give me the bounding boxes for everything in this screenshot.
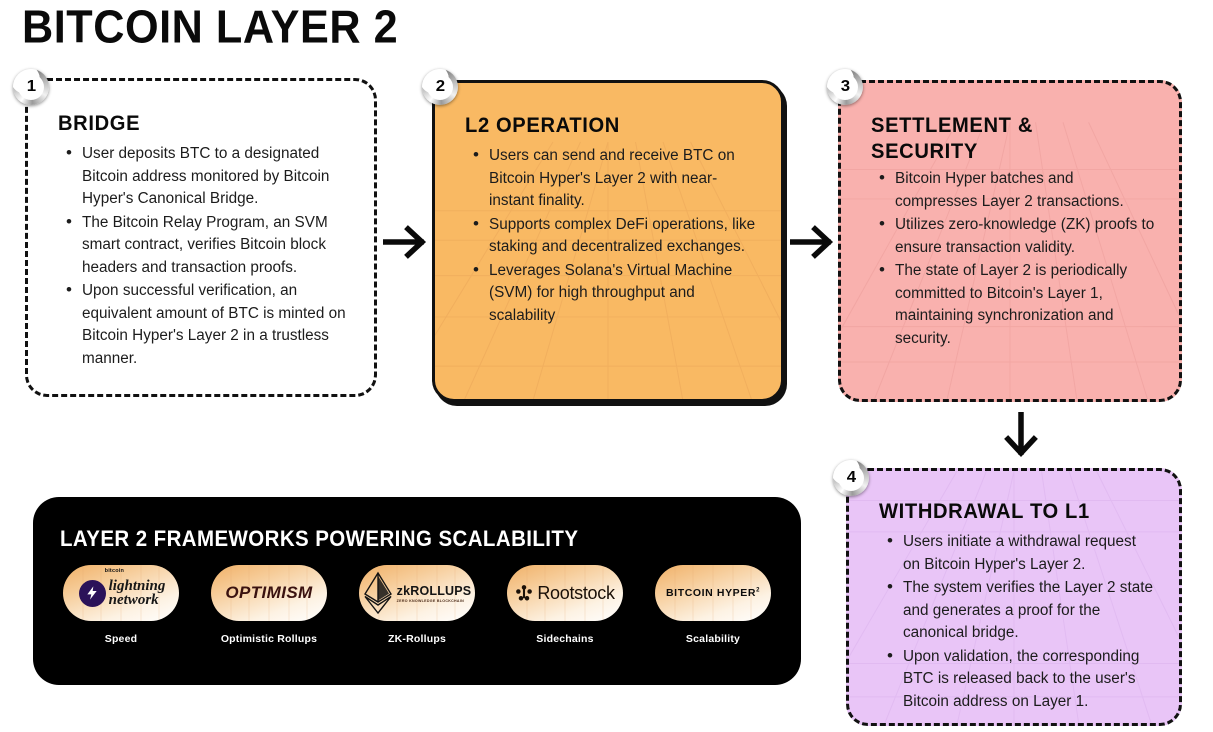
zkrollups-wordmark: zkROLLUPS ZERO KNOWLEDGE BLOCKCHAIN [397, 584, 472, 603]
rootstock-logo: Rootstock [507, 565, 623, 621]
optimism-wordmark: OPTIMISM [225, 583, 312, 603]
bitcoin-hyper-name: BITCOIN HYPER [666, 587, 756, 599]
infographic-root: BITCOIN LAYER 2 BRIDGE User deposits BTC… [0, 0, 1213, 732]
step-card-bridge: BRIDGE User deposits BTC to a designated… [25, 78, 377, 397]
frameworks-logo-row: bitcoin lightning network Speed [57, 565, 777, 645]
framework-caption: Optimistic Rollups [221, 633, 317, 645]
list-item: Upon validation, the corresponding BTC i… [879, 646, 1157, 714]
framework-item-scalability[interactable]: BITCOIN HYPER2 Scalability [649, 565, 777, 645]
step-bullets-settlement-security: Bitcoin Hyper batches and compresses Lay… [871, 168, 1157, 350]
step-card-bridge-content: BRIDGE User deposits BTC to a designated… [28, 81, 374, 389]
frameworks-panel-title: LAYER 2 FRAMEWORKS POWERING SCALABILITY [60, 527, 578, 553]
lightning-word: lightning [109, 579, 166, 593]
lightning-network-wordmark: lightning network [109, 579, 166, 607]
list-item: Supports complex DeFi operations, like s… [465, 214, 759, 259]
ethereum-diamond-icon [363, 571, 393, 615]
zkrollups-mark: zkROLLUPS ZERO KNOWLEDGE BLOCKCHAIN [363, 571, 472, 615]
step-badge-3-number: 3 [840, 79, 849, 95]
bolt-glyph [84, 585, 100, 601]
zkrollups-tagline: ZERO KNOWLEDGE BLOCKCHAIN [397, 599, 472, 603]
list-item: Upon successful verification, an equival… [58, 280, 352, 370]
lightning-network-logo: bitcoin lightning network [63, 565, 179, 621]
optimism-logo: OPTIMISM [211, 565, 327, 621]
bitcoin-sublabel: bitcoin [105, 568, 124, 574]
step-badge-1: 1 [13, 69, 49, 105]
bitcoin-hyper-superscript: 2 [756, 588, 760, 594]
step-title-withdrawal-l1: WITHDRAWAL TO L1 [879, 499, 1174, 525]
arrow-down-icon-step3-step4 [1000, 412, 1042, 460]
list-item: Leverages Solana's Virtual Machine (SVM)… [465, 260, 759, 328]
step-title-bridge: BRIDGE [58, 111, 370, 137]
list-item: The Bitcoin Relay Program, an SVM smart … [58, 212, 352, 280]
list-item: Utilizes zero-knowledge (ZK) proofs to e… [871, 214, 1157, 259]
framework-caption: Scalability [686, 633, 740, 645]
rootstock-mark: Rootstock [515, 583, 614, 604]
framework-caption: Speed [105, 633, 138, 645]
step-badge-2: 2 [422, 69, 458, 105]
step-card-withdrawal-content: WITHDRAWAL TO L1 Users initiate a withdr… [849, 471, 1179, 732]
framework-caption: Sidechains [536, 633, 593, 645]
step-badge-4: 4 [833, 460, 869, 496]
framework-item-speed[interactable]: bitcoin lightning network Speed [57, 565, 185, 645]
step-badge-4-number: 4 [846, 470, 855, 486]
zkrollups-name: zkROLLUPS [397, 584, 472, 598]
framework-caption: ZK-Rollups [388, 633, 446, 645]
list-item: The system verifies the Layer 2 state an… [879, 577, 1157, 645]
lightning-network-mark: bitcoin lightning network [77, 579, 166, 607]
step-title-settlement-security: SETTLEMENT & SECURITY [871, 113, 1099, 165]
framework-item-zk-rollups[interactable]: zkROLLUPS ZERO KNOWLEDGE BLOCKCHAIN ZK-R… [353, 565, 481, 645]
step-card-l2-operation-content: L2 OPERATION Users can send and receive … [435, 83, 781, 346]
arrow-right-icon-step2-step3 [790, 222, 836, 262]
rootstock-node-icon [515, 584, 533, 602]
framework-item-sidechains[interactable]: Rootstock Sidechains [501, 565, 629, 645]
step-bullets-bridge: User deposits BTC to a designated Bitcoi… [58, 143, 352, 370]
list-item: Users can send and receive BTC on Bitcoi… [465, 145, 759, 213]
framework-item-optimistic-rollups[interactable]: OPTIMISM Optimistic Rollups [205, 565, 333, 645]
list-item: The state of Layer 2 is periodically com… [871, 260, 1157, 350]
step-badge-1-number: 1 [26, 79, 35, 95]
network-word: network [109, 593, 166, 607]
list-item: Users initiate a withdrawal request on B… [879, 531, 1157, 576]
step-title-l2-operation: L2 OPERATION [465, 113, 777, 139]
list-item: User deposits BTC to a designated Bitcoi… [58, 143, 352, 211]
step-card-settlement-security: SETTLEMENT & SECURITY Bitcoin Hyper batc… [838, 80, 1182, 402]
zkrollups-logo: zkROLLUPS ZERO KNOWLEDGE BLOCKCHAIN [359, 565, 475, 621]
lightning-bolt-icon [79, 580, 106, 607]
step-card-settlement-content: SETTLEMENT & SECURITY Bitcoin Hyper batc… [841, 83, 1179, 369]
bitcoin-hyper-wordmark: BITCOIN HYPER2 [666, 587, 760, 599]
rootstock-wordmark: Rootstock [537, 583, 614, 604]
step-badge-2-number: 2 [435, 79, 444, 95]
step-card-l2-operation: L2 OPERATION Users can send and receive … [432, 80, 784, 402]
list-item: Bitcoin Hyper batches and compresses Lay… [871, 168, 1157, 213]
step-bullets-withdrawal-l1: Users initiate a withdrawal request on B… [879, 531, 1157, 713]
arrow-right-icon-step1-step2 [383, 222, 429, 262]
frameworks-panel: LAYER 2 FRAMEWORKS POWERING SCALABILITY … [33, 497, 801, 685]
step-card-withdrawal-l1: WITHDRAWAL TO L1 Users initiate a withdr… [846, 468, 1182, 726]
bitcoin-hyper-logo: BITCOIN HYPER2 [655, 565, 771, 621]
page-title: BITCOIN LAYER 2 [22, 2, 398, 53]
step-bullets-l2-operation: Users can send and receive BTC on Bitcoi… [465, 145, 759, 327]
step-badge-3: 3 [827, 69, 863, 105]
